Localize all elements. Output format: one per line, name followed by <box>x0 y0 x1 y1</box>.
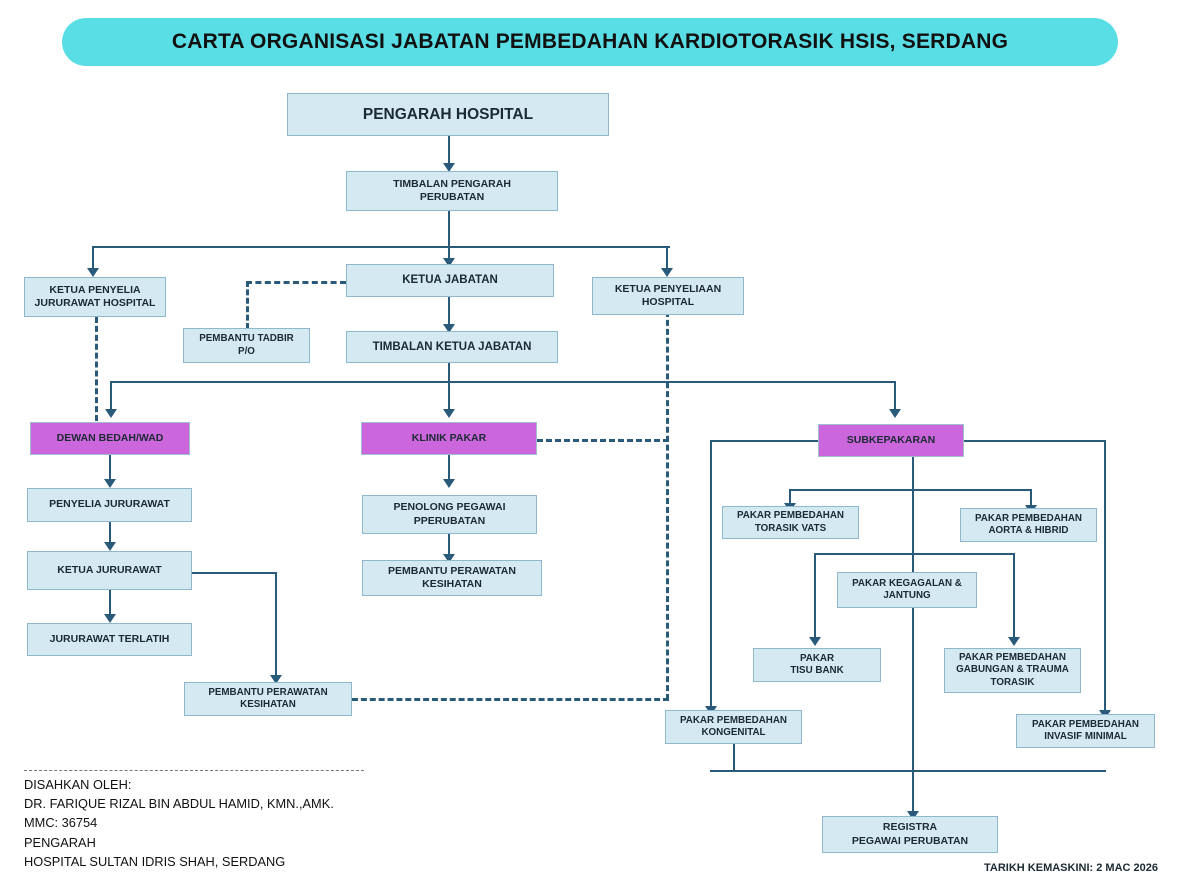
dash-ketuapenyelia-to-dewanbedah <box>95 317 98 421</box>
node-pakar-pembedahan-torasik-vats[interactable]: PAKAR PEMBEDAHAN TORASIK VATS <box>722 506 859 539</box>
node-label: JURURAWAT TERLATIH <box>50 633 170 646</box>
node-label: KETUA PENYELIAAN HOSPITAL <box>615 283 721 309</box>
connector-to-gabungan <box>1013 553 1015 639</box>
arrow-ketuajururawat-to-terlatih <box>104 614 116 623</box>
node-label: PAKAR PEMBEDAHAN TORASIK VATS <box>737 510 844 534</box>
node-subkepakaran[interactable]: SUBKEPAKARAN <box>818 424 964 457</box>
connector-kegagalan-spine <box>912 608 914 813</box>
node-pembantu-tadbir-po[interactable]: PEMBANTU TADBIR P/O <box>183 328 310 363</box>
connector-klinikpakar-to-penolong <box>448 455 450 481</box>
arrow-klinikpakar-to-penolong <box>443 479 455 488</box>
node-label: PAKAR PEMBEDAHAN GABUNGAN & TRAUMA TORAS… <box>956 652 1069 689</box>
node-timbalan-ketua-jabatan[interactable]: TIMBALAN KETUA JABATAN <box>346 331 558 363</box>
arrow-dewanbedah-to-penyeliajururawat <box>104 479 116 488</box>
node-ketua-jururawat[interactable]: KETUA JURURAWAT <box>27 551 192 590</box>
connector-sub-tbar <box>789 489 1032 491</box>
connector-ketuajabatan-to-timbalanketua <box>448 296 450 326</box>
arrow-to-dewanbedah <box>105 409 117 418</box>
connector-pengarah-to-timbalan <box>448 135 450 165</box>
node-pembantu-perawatan-kesihatan-klinik[interactable]: PEMBANTU PERAWATAN KESIHATAN <box>362 560 542 596</box>
connector-bus-to-dewanbedah <box>110 381 112 411</box>
node-label: KETUA JABATAN <box>402 273 498 287</box>
node-pakar-pembedahan-invasif-minimal[interactable]: PAKAR PEMBEDAHAN INVASIF MINIMAL <box>1016 714 1155 748</box>
node-label: PAKAR PEMBEDAHAN KONGENITAL <box>680 715 787 739</box>
connector-tier3-bus <box>110 381 896 383</box>
arrow-to-gabungan <box>1008 637 1020 646</box>
last-updated-label: TARIKH KEMASKINI: 2 MAC 2026 <box>984 862 1158 874</box>
node-pengarah-hospital[interactable]: PENGARAH HOSPITAL <box>287 93 609 136</box>
signature-line-position: PENGARAH <box>24 833 444 852</box>
connector-penolong-to-pembantu <box>448 534 450 556</box>
arrow-to-tisubank <box>809 637 821 646</box>
connector-sub-spine <box>912 457 914 582</box>
connector-tier2-bus <box>92 246 670 248</box>
node-label: KETUA PENYELIA JURURAWAT HOSPITAL <box>35 284 156 310</box>
node-dewan-bedah-wad[interactable]: DEWAN BEDAH/WAD <box>30 422 190 455</box>
connector-timbalanketua-down <box>448 362 450 382</box>
node-label: PAKAR PEMBEDAHAN AORTA & HIBRID <box>975 513 1082 537</box>
arrow-to-ketua-penyelia <box>87 268 99 277</box>
connector-sub-right-drop <box>1104 440 1106 712</box>
connector-kongenital-down <box>733 744 735 772</box>
dash-pembantutadbir-to-ketuajabatan <box>246 281 346 284</box>
signature-line-disahkan: DISAHKAN OLEH: <box>24 775 444 794</box>
org-chart-canvas: CARTA ORGANISASI JABATAN PEMBEDAHAN KARD… <box>0 0 1180 890</box>
arrow-to-klinikpakar <box>443 409 455 418</box>
signature-divider <box>24 770 364 771</box>
connector-sub-right-rail <box>964 440 1106 442</box>
connector-bottom-rail <box>710 770 1106 772</box>
page-title: CARTA ORGANISASI JABATAN PEMBEDAHAN KARD… <box>172 30 1008 54</box>
dash-to-klinikpakar <box>537 439 669 442</box>
connector-dewanbedah-to-penyeliajururawat <box>109 455 111 481</box>
node-ketua-jabatan[interactable]: KETUA JABATAN <box>346 264 554 297</box>
node-label: KETUA JURURAWAT <box>57 564 161 577</box>
node-timbalan-pengarah-perubatan[interactable]: TIMBALAN PENGARAH PERUBATAN <box>346 171 558 211</box>
connector-penyelia-to-ketuajururawat <box>109 522 111 544</box>
signature-line-name: DR. FARIQUE RIZAL BIN ABDUL HAMID, KMN.,… <box>24 794 444 813</box>
node-label: PENOLONG PEGAWAI PPERUBATAN <box>393 501 505 527</box>
node-ketua-penyeliaan-hospital[interactable]: KETUA PENYELIAAN HOSPITAL <box>592 277 744 315</box>
arrow-to-ketua-penyeliaan <box>661 268 673 277</box>
node-label: PAKAR TISU BANK <box>790 653 843 677</box>
node-label: TIMBALAN PENGARAH PERUBATAN <box>393 178 511 204</box>
connector-timbalan-down <box>448 210 450 248</box>
dash-pembantutadbir-riser <box>246 281 249 329</box>
connector-bus-to-subkepakaran <box>894 381 896 411</box>
arrow-to-subkepakaran <box>889 409 901 418</box>
node-label: PEMBANTU PERAWATAN KESIHATAN <box>388 565 516 591</box>
signature-line-hospital: HOSPITAL SULTAN IDRIS SHAH, SERDANG <box>24 852 444 871</box>
connector-ketuajururawat-to-terlatih <box>109 590 111 616</box>
node-label: KLINIK PAKAR <box>412 432 486 445</box>
node-pakar-pembedahan-aorta-hibrid[interactable]: PAKAR PEMBEDAHAN AORTA & HIBRID <box>960 508 1097 542</box>
node-label: PEMBANTU PERAWATAN KESIHATAN <box>208 687 327 711</box>
node-label: REGISTRA PEGAWAI PERUBATAN <box>852 821 968 847</box>
connector-ketuajururawat-drop <box>275 572 277 677</box>
node-label: TIMBALAN KETUA JABATAN <box>373 340 532 354</box>
node-penyelia-jururawat[interactable]: PENYELIA JURURAWAT <box>27 488 192 522</box>
connector-sub-left-rail <box>710 440 818 442</box>
signature-block: DISAHKAN OLEH: DR. FARIQUE RIZAL BIN ABD… <box>24 770 444 871</box>
node-label: PAKAR KEGAGALAN & JANTUNG <box>852 578 962 602</box>
node-label: PAKAR PEMBEDAHAN INVASIF MINIMAL <box>1032 719 1139 743</box>
arrow-penyelia-to-ketuajururawat <box>104 542 116 551</box>
node-pakar-tisu-bank[interactable]: PAKAR TISU BANK <box>753 648 881 682</box>
node-label: PENYELIA JURURAWAT <box>49 498 170 511</box>
connector-bus-to-ketua-penyelia <box>92 246 94 270</box>
chart-title-banner: CARTA ORGANISASI JABATAN PEMBEDAHAN KARD… <box>62 18 1118 66</box>
node-label: PENGARAH HOSPITAL <box>363 105 533 124</box>
connector-bus-to-ketua-penyeliaan <box>666 246 668 270</box>
connector-sub-left-drop <box>710 440 712 708</box>
signature-line-mmc: MMC: 36754 <box>24 813 444 832</box>
connector-ketuajururawat-right <box>192 572 277 574</box>
node-label: SUBKEPAKARAN <box>847 434 935 447</box>
node-pembantu-perawatan-kesihatan-wad[interactable]: PEMBANTU PERAWATAN KESIHATAN <box>184 682 352 716</box>
node-pakar-pembedahan-kongenital[interactable]: PAKAR PEMBEDAHAN KONGENITAL <box>665 710 802 744</box>
node-jururawat-terlatih[interactable]: JURURAWAT TERLATIH <box>27 623 192 656</box>
dash-to-pembantuperawatan-wad <box>352 698 669 701</box>
node-label: DEWAN BEDAH/WAD <box>57 432 164 445</box>
node-klinik-pakar[interactable]: KLINIK PAKAR <box>361 422 537 455</box>
dash-ketuapenyeliaan-riser <box>666 311 669 700</box>
node-registra-pegawai-perubatan[interactable]: REGISTRA PEGAWAI PERUBATAN <box>822 816 998 853</box>
node-pakar-kegagalan-jantung[interactable]: PAKAR KEGAGALAN & JANTUNG <box>837 572 977 608</box>
connector-row2-tbar <box>814 553 1015 555</box>
node-penolong-pegawai-pperubatan[interactable]: PENOLONG PEGAWAI PPERUBATAN <box>362 495 537 534</box>
node-pakar-pembedahan-gabungan-trauma-torasik[interactable]: PAKAR PEMBEDAHAN GABUNGAN & TRAUMA TORAS… <box>944 648 1081 693</box>
connector-bus-to-klinikpakar <box>448 381 450 411</box>
node-label: PEMBANTU TADBIR P/O <box>199 333 294 357</box>
node-ketua-penyelia-jururawat-hospital[interactable]: KETUA PENYELIA JURURAWAT HOSPITAL <box>24 277 166 317</box>
connector-to-tisubank <box>814 553 816 639</box>
